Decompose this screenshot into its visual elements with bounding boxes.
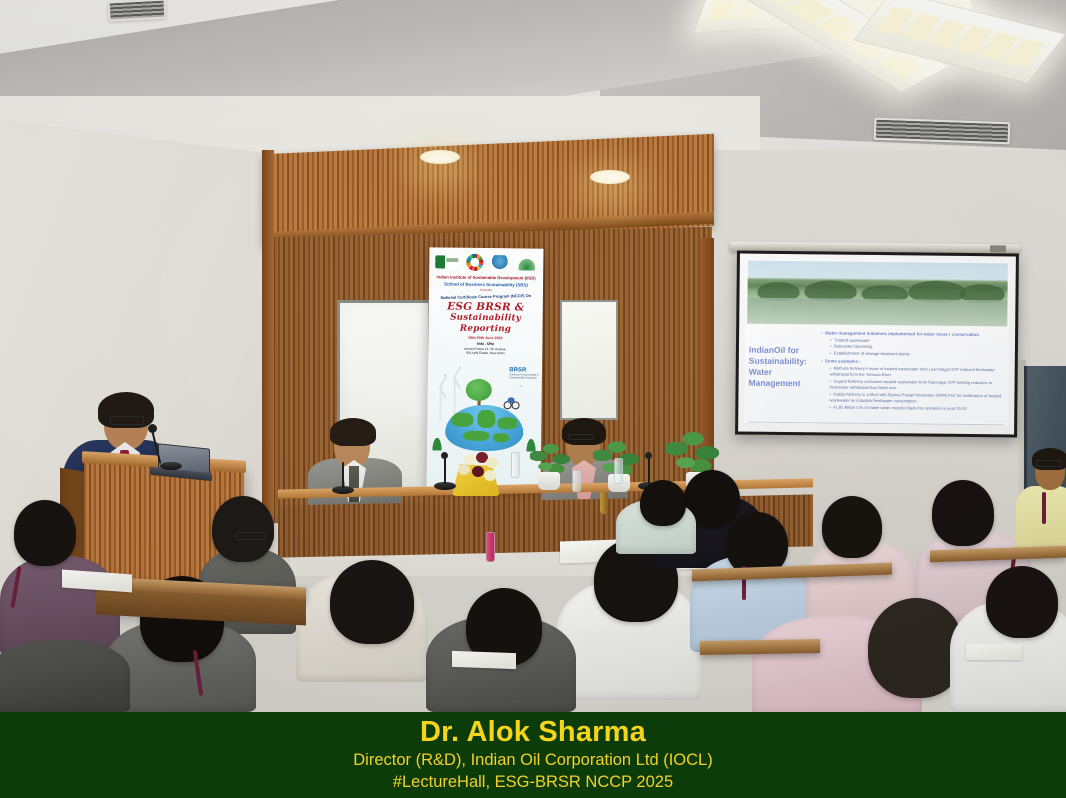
slide-photo-river [747, 261, 1008, 327]
banner-logo-row [429, 247, 543, 274]
caption-bar: Dr. Alok Sharma Director (R&D), Indian O… [0, 712, 1066, 798]
slide-title-line1: IndianOil for [749, 345, 817, 357]
banner-artwork: BRSR Business Responsibility & Sustainab… [427, 358, 542, 451]
banner-date: 19th-20th June 2025 [428, 335, 542, 340]
brass-lamp [600, 492, 608, 514]
audience-head [932, 480, 994, 546]
potted-plant-pot [538, 472, 560, 490]
presentation-slide: IndianOil for Sustainability: Water Mana… [744, 259, 1010, 426]
banner-title-line2: Sustainability Reporting [428, 313, 542, 335]
glasses-icon [110, 416, 144, 425]
audience-head [212, 496, 274, 562]
water-bottle [614, 458, 623, 484]
palm-leaf-icon [429, 428, 445, 450]
slide-sub-bullet: Establishment of sewage treatment plants [830, 350, 1006, 358]
microphone-stand [648, 456, 650, 484]
banner-brsr-block: BRSR Business Responsibility & Sustainab… [509, 367, 539, 380]
glasses-icon [568, 434, 594, 440]
banner-title-line1: ESG BRSR & [429, 300, 543, 314]
slide-title-line3: Water [749, 366, 817, 378]
notebook [452, 651, 516, 669]
slide-title: IndianOil for Sustainability: Water Mana… [748, 328, 817, 420]
flower-icon [486, 457, 498, 468]
microphone-stand [342, 462, 344, 488]
ac-vent-icon [108, 0, 167, 22]
lanyard [1042, 492, 1046, 524]
banner-org-line1: Indian Institute of Sustainable Developm… [429, 274, 543, 280]
notebook [966, 644, 1022, 660]
blue-globe-logo-icon [490, 255, 509, 271]
flower-icon [484, 470, 496, 481]
slide-photo-credit [1004, 299, 1005, 301]
audience-torso [0, 640, 130, 712]
globe-icon [445, 404, 524, 451]
banner-presents: Presents [429, 287, 543, 292]
recessed-downlight-icon [420, 150, 460, 164]
water-bottle [511, 452, 520, 478]
wood-panel-edge [262, 150, 274, 540]
audience-head [640, 480, 686, 526]
banner-brsr-expand-line2: Sustainability Reporting [509, 376, 539, 380]
glasses-icon [1036, 460, 1062, 467]
sdg-wheel-logo-icon [466, 254, 483, 270]
audience-head [986, 566, 1058, 638]
audience-head [822, 496, 882, 558]
event-hashtag: #LectureHall, ESG-BRSR NCCP 2025 [393, 772, 673, 793]
flower-icon [472, 466, 484, 477]
green-arch-logo-icon [516, 255, 537, 271]
water-bottle [486, 532, 495, 562]
audience-desk [700, 639, 820, 655]
speaker-name: Dr. Alok Sharma [420, 717, 646, 749]
wind-turbine-icon [439, 386, 441, 420]
slide-example: Gujarat Refinery consumes treated wastew… [830, 378, 1006, 392]
screenshot-root: IndianOil for Sustainability: Water Mana… [0, 0, 1066, 798]
flower-bouquet [452, 452, 512, 496]
glasses-icon [236, 532, 266, 540]
banner-venue-line2: 69 Lodhi Estate, New Delhi [428, 351, 542, 357]
cyclist-icon [504, 397, 520, 409]
slide-example: Mathura Refinery's reuse of treated wast… [830, 365, 1006, 379]
microphone-head [441, 452, 448, 459]
audience-head [330, 560, 414, 644]
slide-example: Haldia Refinery in a MoU with Syama Pras… [829, 392, 1005, 406]
conference-photo: IndianOil for Sustainability: Water Mana… [0, 0, 1066, 712]
bird-icon: ~ [520, 383, 522, 388]
recessed-downlight-icon [590, 170, 630, 184]
slide-bullet-list: Water management initiatives implemented… [820, 328, 1006, 421]
projector-screen: IndianOil for Sustainability: Water Mana… [735, 251, 1019, 438]
banner-time: 9AM - 5PM [428, 341, 542, 346]
speaker-role: Director (R&D), Indian Oil Corporation L… [353, 750, 712, 771]
flower-icon [458, 464, 470, 475]
microphone-stand [444, 456, 446, 484]
whiteboard [560, 300, 618, 420]
banner-program: National Certificate Course Program (NCC… [429, 293, 543, 301]
screen-roller-knob[interactable] [990, 245, 1006, 252]
audience-head [14, 500, 76, 566]
microphone-base [160, 462, 182, 470]
water-bottle [572, 470, 581, 492]
bird-icon: ~ [444, 372, 446, 377]
tree-icon [466, 379, 492, 401]
iisd-logo-icon [436, 254, 460, 270]
slide-title-line4: Management [749, 377, 817, 389]
ac-vent-icon [874, 118, 1011, 145]
slide-title-line2: Sustainability: [749, 356, 817, 368]
microphone-head [645, 452, 652, 459]
panelist-left-hair [330, 418, 376, 446]
banner-org-line2: School of Business Sustainability (SBS) [429, 281, 543, 287]
slide-example: 41.81 Billion Ltrs of waste water recycl… [829, 405, 1005, 413]
